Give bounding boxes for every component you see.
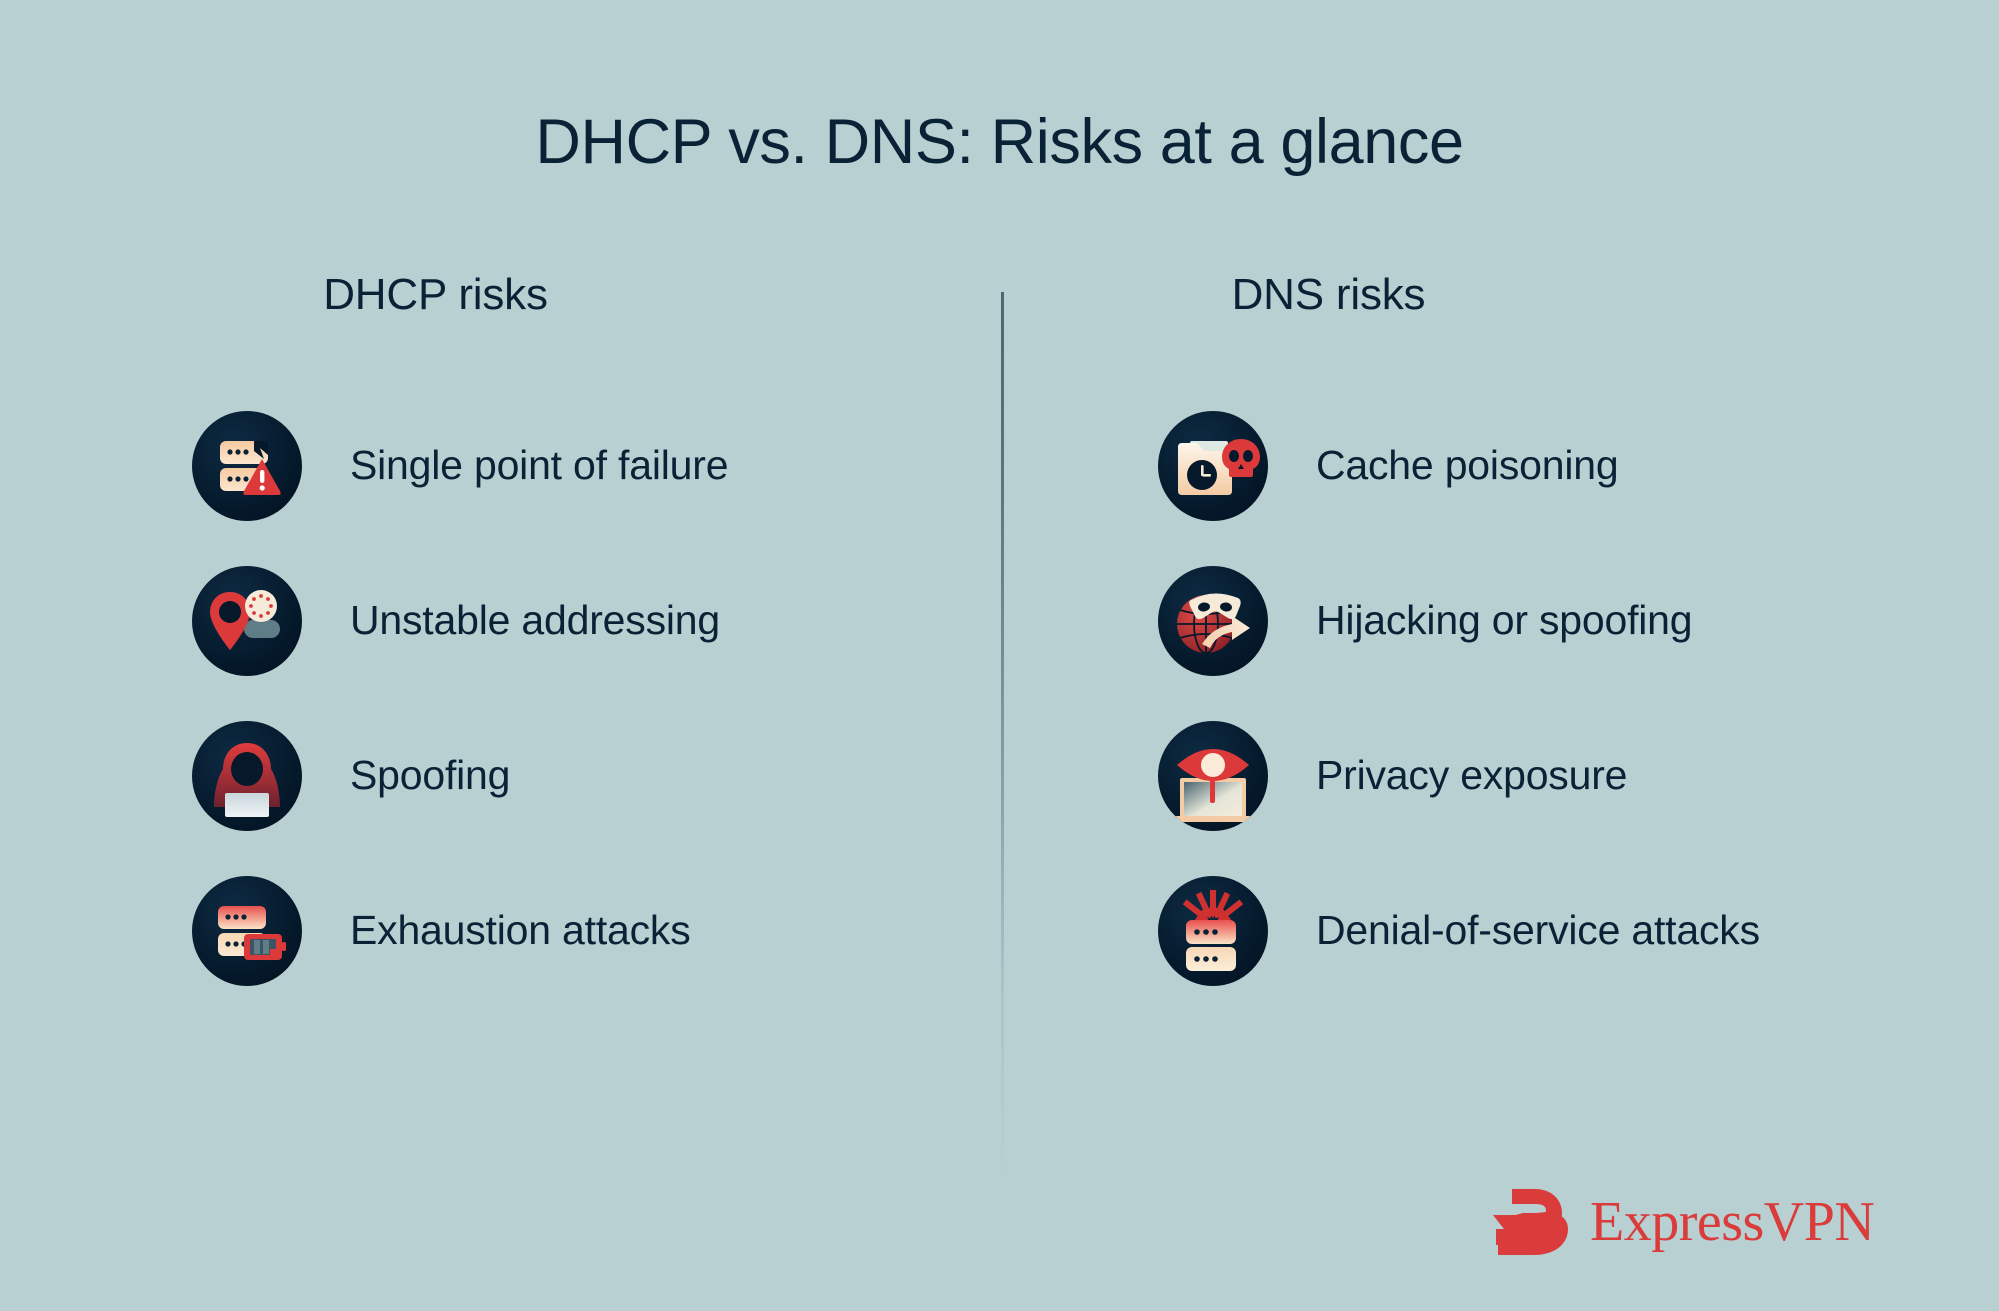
globe-mask-arrow-icon [1158, 566, 1268, 676]
infographic-page: DHCP vs. DNS: Risks at a glance DHCP ris… [0, 0, 1999, 1311]
server-stack-arrows-icon [1158, 876, 1268, 986]
list-item: Unstable addressing [192, 543, 1001, 698]
hooded-hacker-laptop-icon [192, 721, 302, 831]
list-item: Hijacking or spoofing [1158, 543, 1999, 698]
dhcp-risk-list: Single point of failure [0, 388, 1001, 1008]
location-pin-loading-icon [192, 566, 302, 676]
dhcp-risks-header: DHCP risks [0, 270, 1001, 320]
server-stack-battery-icon [192, 876, 302, 986]
list-item: Spoofing [192, 698, 1001, 853]
expressvpn-logo: ExpressVPN [1490, 1185, 1874, 1259]
list-item-label: Exhaustion attacks [350, 907, 691, 954]
list-item-label: Hijacking or spoofing [1316, 597, 1692, 644]
list-item: Single point of failure [192, 388, 1001, 543]
expressvpn-wordmark: ExpressVPN [1590, 1190, 1874, 1254]
list-item: Cache poisoning [1158, 388, 1999, 543]
list-item: Denial-of-service attacks [1158, 853, 1999, 1008]
list-item: Privacy exposure [1158, 698, 1999, 853]
dhcp-risks-column: DHCP risks [0, 270, 1001, 1200]
list-item-label: Privacy exposure [1316, 752, 1627, 799]
expressvpn-e-mark-icon [1490, 1185, 1568, 1259]
dns-risks-column: DNS risks [998, 270, 1999, 1200]
list-item-label: Unstable addressing [350, 597, 720, 644]
list-item-label: Single point of failure [350, 442, 728, 489]
list-item-label: Spoofing [350, 752, 510, 799]
eye-laptop-icon [1158, 721, 1268, 831]
list-item-label: Denial-of-service attacks [1316, 907, 1760, 954]
dns-risk-list: Cache poisoning [998, 388, 1999, 1008]
risk-columns: DHCP risks [0, 270, 1999, 1200]
dns-risks-header: DNS risks [998, 270, 1999, 320]
page-title: DHCP vs. DNS: Risks at a glance [0, 108, 1999, 177]
list-item-label: Cache poisoning [1316, 442, 1618, 489]
folder-clock-skull-icon [1158, 411, 1268, 521]
server-stack-warning-icon [192, 411, 302, 521]
list-item: Exhaustion attacks [192, 853, 1001, 1008]
